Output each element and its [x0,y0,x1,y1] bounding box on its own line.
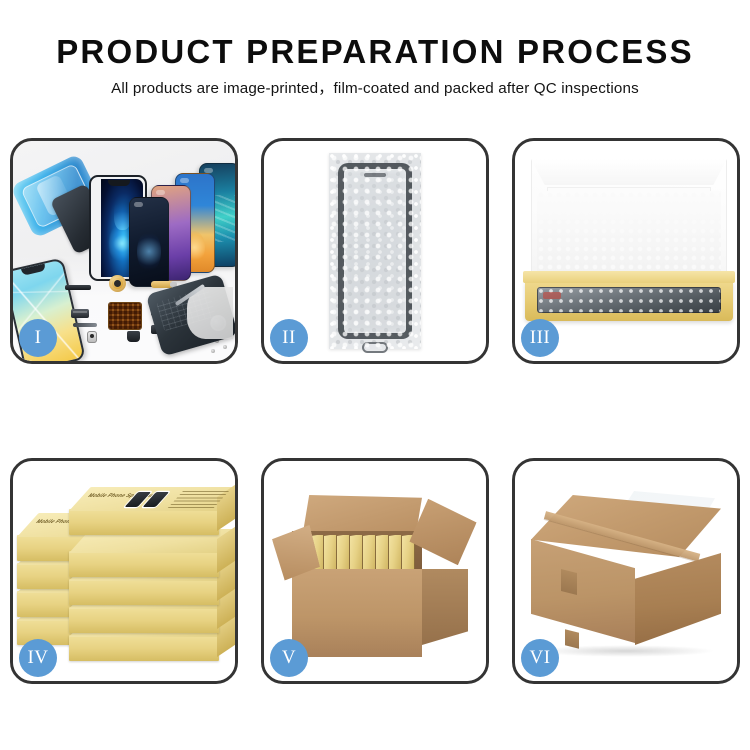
camera-icon [180,178,189,183]
wrapped-screen-glass [338,163,412,339]
foam-insert [537,191,721,275]
carton-right-face [635,553,721,645]
retail-box-top-right: Mobile Phone Spare Parts [69,509,219,535]
step-badge-1: I [19,319,57,357]
packed-screen-item [537,287,721,313]
step-panel-4: Mobile Phone Spare Parts [10,458,238,684]
step-panel-3: III [512,138,740,364]
retail-box [69,579,219,605]
camera-icon [156,190,165,195]
retail-box [69,635,219,661]
page-title: PRODUCT PREPARATION PROCESS [0,34,750,71]
carton-side-face [422,569,468,645]
open-carton [278,495,474,657]
step-badge-4: IV [19,639,57,677]
step-badge-6: VI [521,639,559,677]
home-button-icon [362,342,388,353]
notch-icon [108,180,130,186]
sealed-carton [531,495,721,653]
box-spec-list [168,491,229,508]
step-panel-1: I [10,138,238,364]
box-lid-artwork: Mobile Phone Spare Parts [69,487,235,511]
product-preparation-infographic: PRODUCT PREPARATION PROCESS All products… [0,0,750,750]
part-antenna-strip [65,285,91,290]
retail-box [69,551,219,577]
header: PRODUCT PREPARATION PROCESS All products… [0,34,750,98]
part-taptic-coil [109,275,126,292]
step-badge-2: II [270,319,308,357]
step-panel-5: V [261,458,489,684]
part-connector [71,309,89,318]
part-ic-grid [109,303,141,329]
camera-icon [134,202,143,207]
carton-flap-tab [561,569,577,595]
part-screw [223,345,227,349]
step-badge-3: III [521,319,559,357]
part-screw [211,349,215,353]
carton-front-face [531,539,635,643]
retail-box [69,607,219,633]
carton-shadow [537,645,715,657]
step-badge-5: V [270,639,308,677]
step-panel-6: VI [512,458,740,684]
repair-tool [187,287,233,339]
part-ribbon-cable [73,323,97,327]
part-speaker [127,331,140,342]
part-camera-module [87,331,97,343]
page-subtitle: All products are image-printed，film-coat… [0,80,750,98]
steps-grid: I II III [10,138,740,684]
carton-front-face [292,569,422,657]
notch-icon [21,264,46,276]
step-panel-2: II [261,138,489,364]
